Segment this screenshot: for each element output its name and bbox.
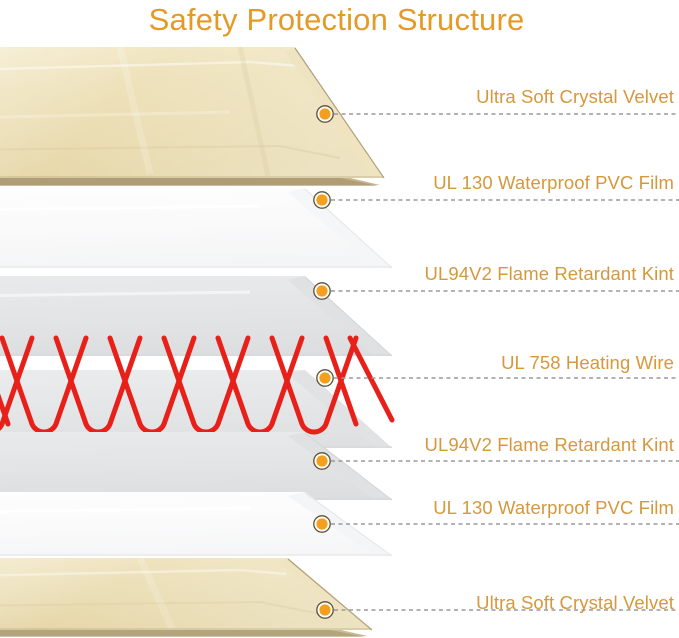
layer-velvet-bottom	[0, 558, 372, 637]
layer-label-velvet-bottom: Ultra Soft Crystal Velvet	[476, 592, 674, 614]
layer-label-pvc-bottom: UL 130 Waterproof PVC Film	[433, 497, 674, 519]
callout-marker-4[interactable]	[317, 370, 334, 387]
page-title: Safety Protection Structure	[0, 0, 679, 40]
layer-label-knit-bottom: UL94V2 Flame Retardant Kint	[425, 434, 675, 456]
callout-marker-7[interactable]	[317, 602, 334, 619]
callout-marker-2[interactable]	[314, 192, 331, 209]
layer-label-knit-top: UL94V2 Flame Retardant Kint	[425, 263, 675, 285]
callout-marker-1[interactable]	[317, 106, 334, 123]
layer-label-heating-wire: UL 758 Heating Wire	[501, 352, 674, 374]
layer-label-pvc-top: UL 130 Waterproof PVC Film	[433, 172, 674, 194]
callout-marker-5[interactable]	[314, 453, 331, 470]
diagram-canvas: Safety Protection Structure Ultra Soft C…	[0, 0, 679, 638]
callout-marker-3[interactable]	[314, 283, 331, 300]
layer-label-velvet-top: Ultra Soft Crystal Velvet	[476, 86, 674, 108]
callout-marker-6[interactable]	[314, 516, 331, 533]
